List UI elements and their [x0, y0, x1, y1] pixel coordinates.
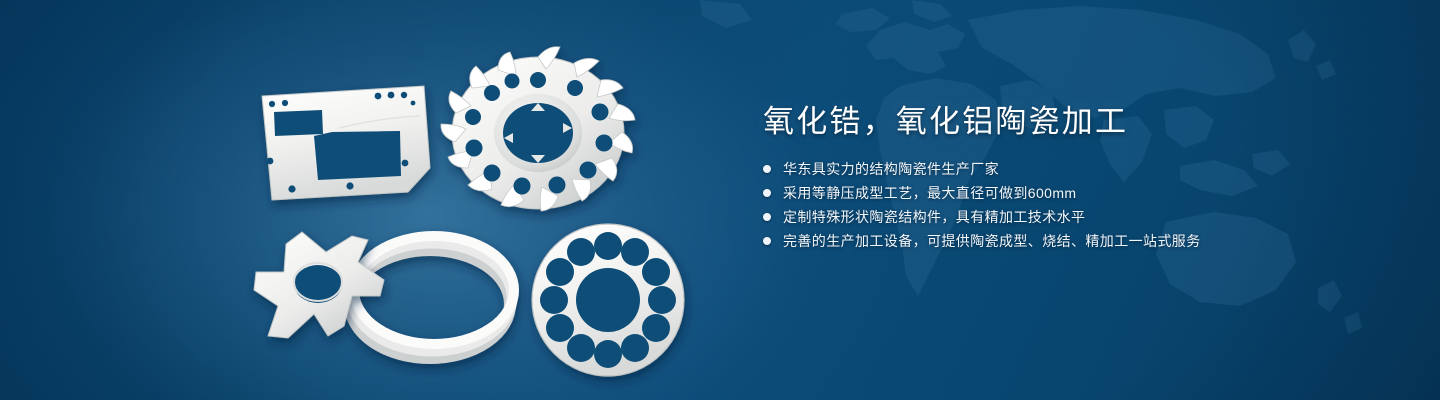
bullet-dot-icon [763, 213, 771, 221]
feature-text: 华东具实力的结构陶瓷件生产厂家 [783, 162, 999, 176]
ceramic-impeller-disc [441, 47, 635, 211]
list-item: 采用等静压成型工艺，最大直径可做到600mm [763, 186, 1383, 200]
list-item: 完善的生产加工设备，可提供陶瓷成型、烧结、精加工一站式服务 [763, 234, 1383, 248]
feature-list: 华东具实力的结构陶瓷件生产厂家 采用等静压成型工艺，最大直径可做到600mm 定… [763, 162, 1383, 248]
bullet-dot-icon [763, 237, 771, 245]
list-item: 定制特殊形状陶瓷结构件，具有精加工技术水平 [763, 210, 1383, 224]
product-photo-cluster [0, 0, 760, 400]
ceramic-perforated-ring [532, 224, 684, 376]
page-title: 氧化锆，氧化铝陶瓷加工 [763, 104, 1383, 141]
ceramic-rings [350, 236, 514, 358]
hero-banner: 氧化锆，氧化铝陶瓷加工 华东具实力的结构陶瓷件生产厂家 采用等静压成型工艺，最大… [0, 0, 1440, 400]
feature-text: 完善的生产加工设备，可提供陶瓷成型、烧结、精加工一站式服务 [783, 234, 1201, 248]
list-item: 华东具实力的结构陶瓷件生产厂家 [763, 162, 1383, 176]
marketing-copy: 氧化锆，氧化铝陶瓷加工 华东具实力的结构陶瓷件生产厂家 采用等静压成型工艺，最大… [763, 104, 1383, 248]
bullet-dot-icon [763, 165, 771, 173]
feature-text: 定制特殊形状陶瓷结构件，具有精加工技术水平 [783, 210, 1085, 224]
ceramic-plate-with-cutouts [262, 86, 430, 200]
feature-text: 采用等静压成型工艺，最大直径可做到600mm [783, 186, 1076, 200]
bullet-dot-icon [763, 189, 771, 197]
